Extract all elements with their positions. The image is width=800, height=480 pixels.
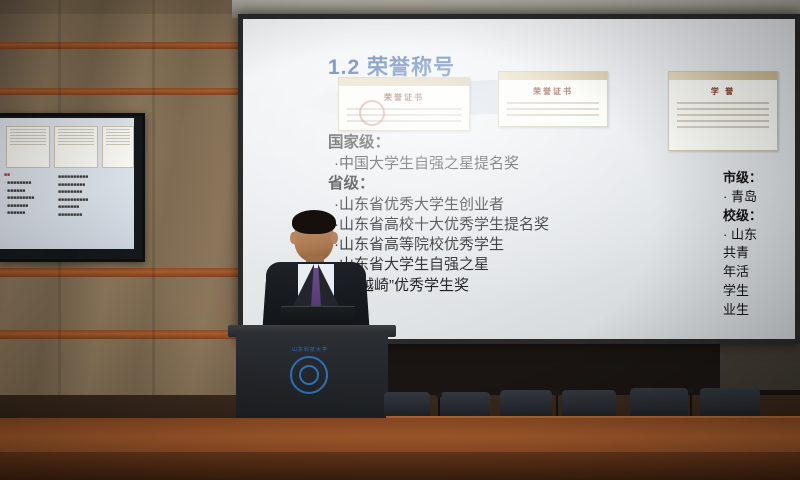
- slide-bullet: ·山东省大学生自强之星: [334, 255, 628, 274]
- slide-level-label: 省级：: [328, 174, 628, 194]
- photo-scene: ■■ · ■■■■■■■■· ■■■■■■· ■■■■■■■■■· ■■■■■■…: [0, 0, 800, 480]
- speaker-ear-right: [331, 232, 338, 244]
- chair-back: [500, 390, 552, 412]
- chair-back: [384, 392, 430, 412]
- floor-shadow: [0, 452, 800, 480]
- wood-trim-strip: [0, 268, 250, 277]
- podium-logo: 山东科技大学: [290, 346, 334, 392]
- certificate-image: 荣誉证书: [338, 77, 470, 131]
- chair-back: [630, 388, 688, 411]
- certificate-heading: 学 誉: [669, 86, 777, 97]
- slide-bullet: ·山东省优秀大学生创业者: [334, 195, 628, 214]
- speaker-hair: [292, 210, 336, 234]
- slide-bullet: ·“孙越崎”优秀学生奖: [334, 276, 628, 295]
- certificate-image: 荣誉证书: [498, 71, 608, 127]
- certificate-seal-icon: [359, 100, 385, 126]
- monitor-certificate: [6, 126, 50, 168]
- slide-bullet: · 山东: [723, 226, 795, 245]
- monitor-certificate: [54, 126, 98, 168]
- certificate-lines: [507, 102, 599, 120]
- slide-bullet: 业生: [723, 301, 795, 320]
- certificate-image: 学 誉: [668, 71, 778, 151]
- podium-emblem-label: 山东科技大学: [290, 346, 330, 353]
- monitor-stand: [44, 249, 78, 258]
- slide-right-column: 市级： · 青岛 校级： · 山东 共青 年活 学生 业生: [723, 169, 795, 320]
- microphone: [438, 396, 440, 416]
- slide-bullet: 共青: [723, 244, 795, 263]
- slide-level-label: 市级：: [723, 169, 795, 188]
- monitor-certificate: [102, 126, 134, 168]
- slide-bullet: 年活: [723, 263, 795, 282]
- microphone: [556, 394, 558, 416]
- certificate-lines: [677, 102, 769, 132]
- certificate-band: [499, 72, 607, 80]
- microphone: [690, 392, 692, 416]
- wall-monitor-screen: ■■ · ■■■■■■■■· ■■■■■■· ■■■■■■■■■· ■■■■■■…: [0, 118, 134, 249]
- certificate-band: [339, 78, 469, 86]
- chair-back: [562, 390, 616, 412]
- wall-panel-seam: [0, 0, 250, 14]
- wood-trim-strip: [0, 42, 250, 49]
- certificate-heading: 荣誉证书: [339, 92, 469, 103]
- slide-level-label: 国家级：: [328, 133, 628, 153]
- slide-bullet: ·中国大学生自强之星提名奖: [334, 154, 628, 173]
- speaker-ear-left: [290, 232, 297, 244]
- chair-back: [700, 388, 760, 411]
- slide-body: 国家级： ·中国大学生自强之星提名奖 省级： ·山东省优秀大学生创业者 ·山东省…: [328, 132, 628, 296]
- slide-bullet: ·山东省高等院校优秀学生: [334, 235, 628, 254]
- chair-back: [440, 392, 490, 412]
- certificate-heading: 荣誉证书: [499, 86, 607, 97]
- slide-bullet: ·山东省高校十大优秀学生提名奖: [334, 215, 628, 234]
- university-emblem-icon: [290, 356, 328, 394]
- slide-bullet: 学生: [723, 282, 795, 301]
- wall-panel-seam: [152, 0, 155, 400]
- slide-bullet: · 青岛: [723, 188, 795, 207]
- wood-trim-strip: [0, 88, 250, 95]
- slide-level-label: 校级：: [723, 207, 795, 226]
- wood-trim-strip: [0, 330, 250, 339]
- certificate-band: [669, 72, 777, 80]
